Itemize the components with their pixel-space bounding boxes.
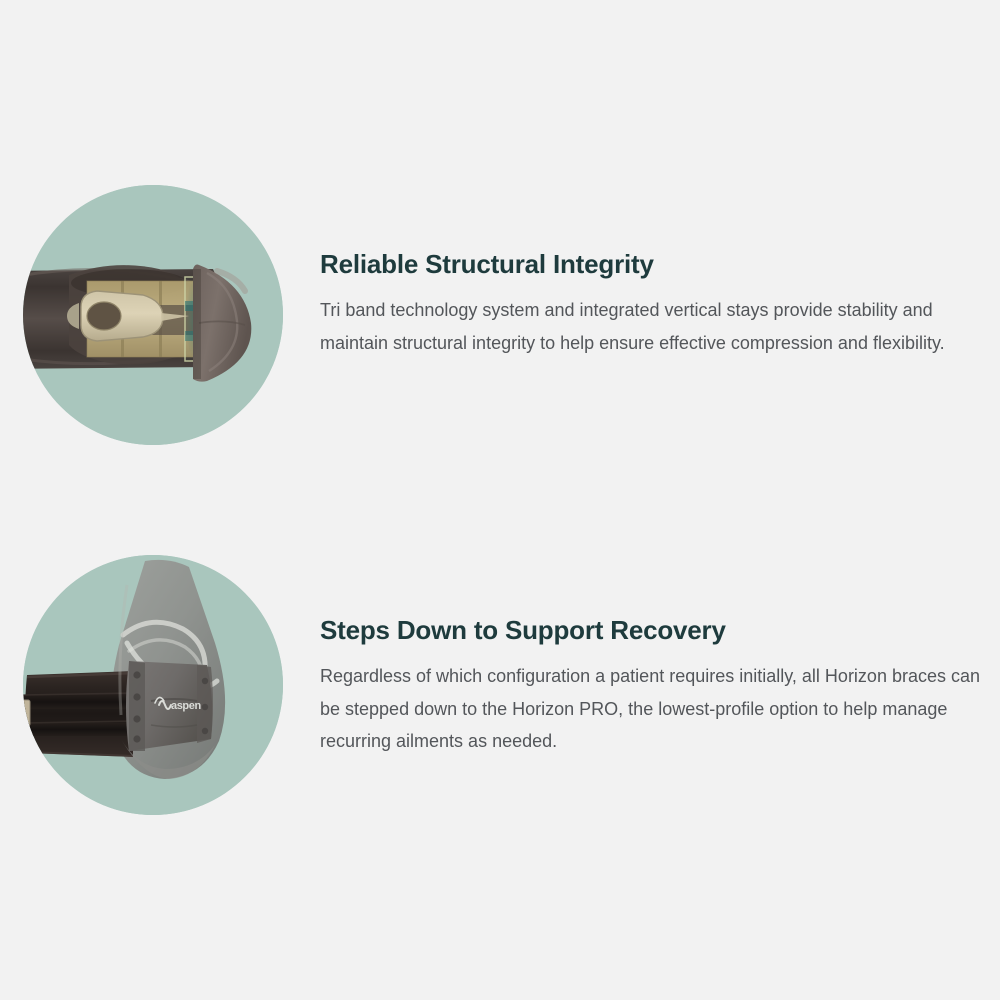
feature-description: Regardless of which configuration a pati… xyxy=(320,660,992,758)
feature-description: Tri band technology system and integrate… xyxy=(320,294,992,359)
feature-image-structural-integrity xyxy=(23,185,283,445)
feature-image-steps-down: aspen xyxy=(23,555,283,815)
image-circle-backdrop xyxy=(23,555,283,815)
feature-heading: Reliable Structural Integrity xyxy=(320,247,992,281)
feature-list-page: Reliable Structural Integrity Tri band t… xyxy=(0,0,1000,1000)
feature-heading: Steps Down to Support Recovery xyxy=(320,613,992,647)
feature-copy-structural-integrity: Reliable Structural Integrity Tri band t… xyxy=(320,247,992,359)
feature-copy-steps-down: Steps Down to Support Recovery Regardles… xyxy=(320,613,992,758)
image-circle-backdrop xyxy=(23,185,283,445)
